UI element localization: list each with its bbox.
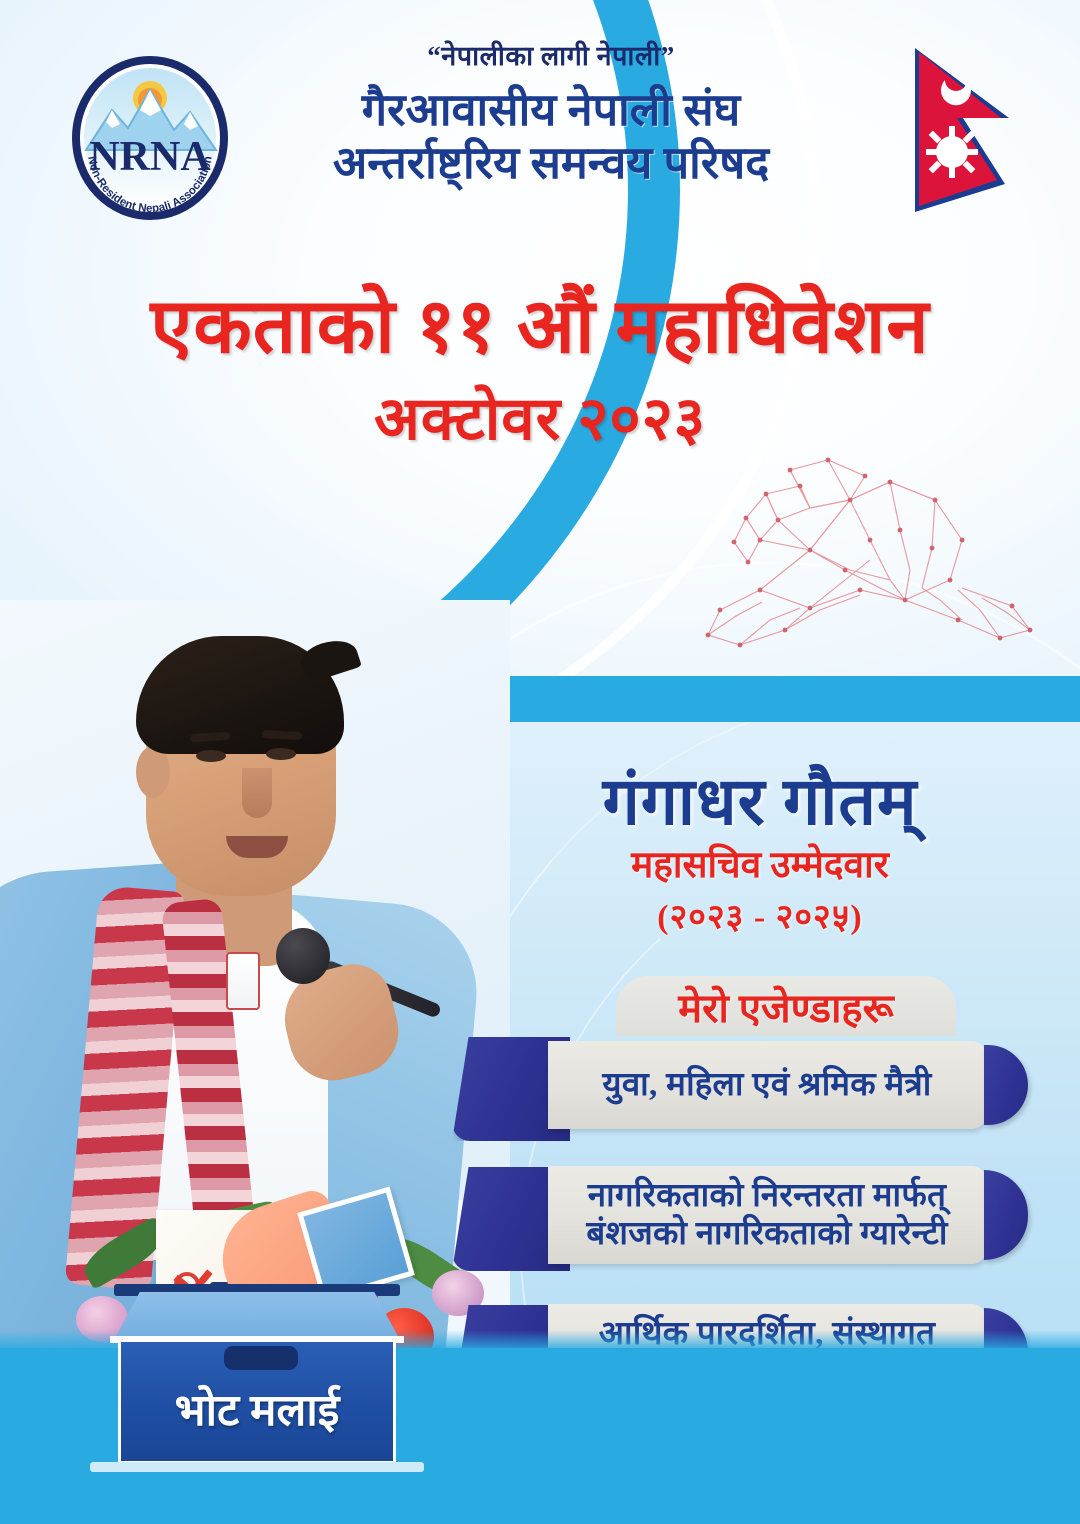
agenda-item: युवा, महिला एवं श्रमिक मैत्री xyxy=(452,1033,1052,1135)
eye-left xyxy=(196,750,226,762)
agenda-end-icon xyxy=(984,1170,1028,1260)
agenda-bar: युवा, महिला एवं श्रमिक मैत्री xyxy=(548,1041,986,1129)
ballot-box-lid xyxy=(114,1292,400,1340)
election-poster: NRNA Non-Resident Nepali Association “ने… xyxy=(0,0,1080,1524)
agenda-item: नागरिकताको निरन्तरता मार्फत् बंशजको नागर… xyxy=(452,1163,1052,1273)
ballot-box-base xyxy=(90,1462,424,1472)
microphone-icon xyxy=(276,928,330,984)
agenda-text: नागरिकताको निरन्तरता मार्फत् बंशजको नागर… xyxy=(548,1177,986,1254)
poster-header: NRNA Non-Resident Nepali Association “ने… xyxy=(0,0,1080,245)
agenda-text-line2: बंशजको नागरिकताको ग्यारेन्टी xyxy=(564,1215,970,1253)
agenda-text-line1: युवा, महिला एवं श्रमिक मैत्री xyxy=(602,1067,931,1103)
ballot-box-handle xyxy=(224,1346,298,1370)
org-name-line1: गैरआवासीय नेपाली संघ xyxy=(236,84,866,136)
event-title-block: एकताको ११ औं महाधिवेशन अक्टोवर २०२३ xyxy=(60,288,1020,452)
event-title-main: एकताको ११ औं महाधिवेशन xyxy=(60,288,1020,368)
handshake-wireframe-icon xyxy=(700,430,1040,670)
nrna-logo-icon: NRNA Non-Resident Nepali Association xyxy=(66,54,234,232)
nrna-acronym-text: NRNA xyxy=(89,134,211,180)
agenda-heading: मेरो एजेण्डाहरू xyxy=(616,976,956,1036)
candidate-term: (२०२३ - २०२५) xyxy=(460,892,1060,938)
eye-right xyxy=(266,748,296,760)
nose xyxy=(242,768,272,818)
organization-titles: “नेपालीका लागी नेपाली” गैरआवासीय नेपाली … xyxy=(236,40,866,189)
candidate-info-block: गंगाधर गौतम् महासचिव उम्मेदवार (२०२३ - २… xyxy=(460,768,1060,938)
agenda-text: युवा, महिला एवं श्रमिक मैत्री xyxy=(548,1066,986,1104)
agenda-text-line1: नागरिकताको निरन्तरता मार्फत् xyxy=(588,1178,946,1214)
org-name-line2: अन्तर्राष्ट्रिय समन्वय परिषद xyxy=(236,137,866,189)
agenda-bar: नागरिकताको निरन्तरता मार्फत् बंशजको नागर… xyxy=(548,1166,986,1264)
candidate-role: महासचिव उम्मेदवार xyxy=(460,845,1060,888)
agenda-end-icon xyxy=(984,1045,1028,1125)
agenda-heading-text: मेरो एजेण्डाहरू xyxy=(678,979,894,1034)
org-tagline: “नेपालीका लागी नेपाली” xyxy=(236,40,866,72)
vote-for-me-label: भोट मलाई xyxy=(118,1378,396,1438)
ballot-box-graphic: भोट मलाई xyxy=(96,1206,516,1506)
name-badge xyxy=(226,952,260,1010)
candidate-name: गंगाधर गौतम् xyxy=(460,768,1060,837)
nepal-flag-icon xyxy=(905,44,1025,216)
